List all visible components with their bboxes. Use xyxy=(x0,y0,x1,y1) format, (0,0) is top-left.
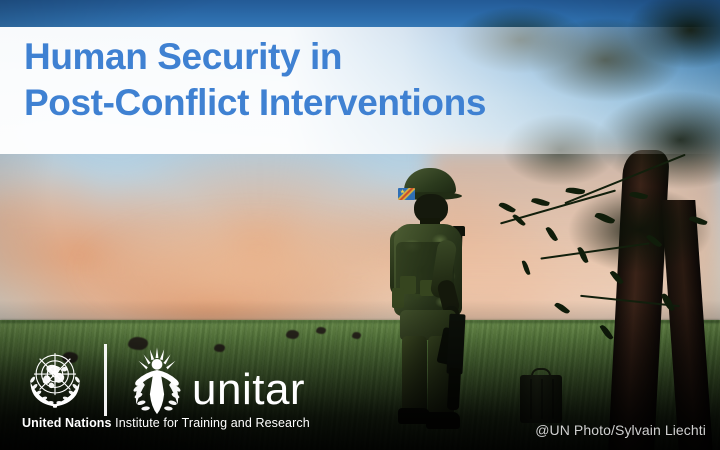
unitar-tagline: United Nations Institute for Training an… xyxy=(22,416,310,430)
logo-divider xyxy=(104,344,107,416)
unitar-logo: unitar United Nations Institute for Trai… xyxy=(20,344,320,434)
photo-credit: @UN Photo/Sylvain Liechti xyxy=(535,422,706,438)
page-title: Human Security in Post-Conflict Interven… xyxy=(24,34,684,126)
un-emblem-icon xyxy=(20,346,90,412)
unitar-figure-emblem-icon xyxy=(120,344,194,416)
slide-canvas: Human Security in Post-Conflict Interven… xyxy=(0,0,720,450)
tagline-bold: United Nations xyxy=(22,416,112,430)
tagline-rest: Institute for Training and Research xyxy=(112,416,310,430)
unitar-wordmark: unitar xyxy=(192,368,305,412)
